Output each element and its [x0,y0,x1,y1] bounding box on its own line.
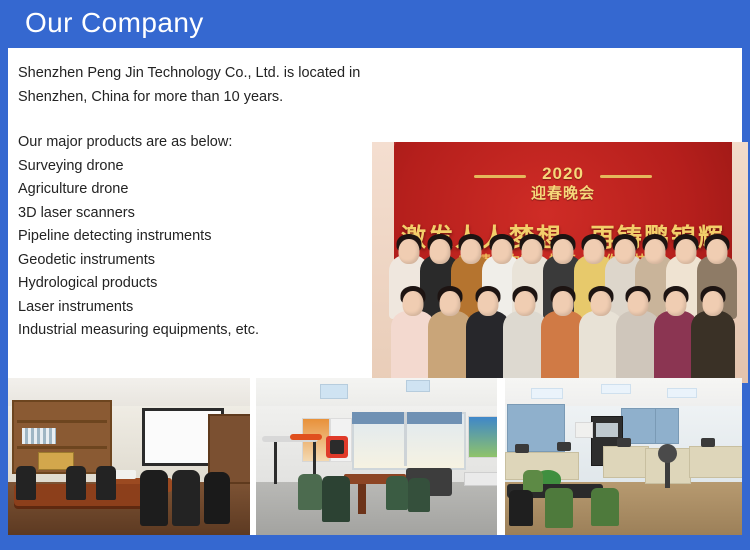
open-plan-office-photo [505,378,742,535]
company-profile-page: Our Company Shenzhen Peng Jin Technology… [0,0,750,550]
work-bench [464,472,497,486]
chair [140,470,168,526]
chair [16,466,36,500]
header-bar: Our Company [0,0,750,48]
list-item: 3D laser scanners [18,202,368,226]
list-item: Hydrological products [18,272,368,296]
content-card: Shenzhen Peng Jin Technology Co., Ltd. i… [8,48,742,375]
page-title: Our Company [25,5,204,41]
list-item: Surveying drone [18,155,368,179]
banner-subtitle: 迎春晚会 [394,182,732,203]
air-conditioner [575,422,593,438]
text-spacer [18,109,368,131]
floor [256,482,497,535]
person [394,285,432,383]
company-intro-text: Shenzhen Peng Jin Technology Co., Ltd. i… [18,62,368,109]
standing-fan [665,454,670,488]
window-blind [655,408,679,444]
office-photo-strip [8,378,742,535]
bookshelf [12,400,112,474]
person [657,285,695,383]
ceiling-light [406,380,430,392]
frame-left-border [0,48,8,535]
monitor [515,444,529,453]
monitor [557,442,571,451]
chair [545,488,573,528]
frame-bottom-border [0,535,750,550]
office-cubicle [689,446,742,478]
window-mullion [404,412,407,466]
wall-poster [468,416,497,458]
chair [96,466,116,500]
conference-room-photo [8,378,250,535]
list-item: Pipeline detecting instruments [18,225,368,249]
instrument-case [326,436,348,458]
person [544,285,582,383]
company-text-column: Shenzhen Peng Jin Technology Co., Ltd. i… [18,62,368,343]
ceiling-light [531,388,563,399]
chair [66,466,86,500]
list-item: Industrial measuring equipments, etc. [18,319,368,343]
ceiling-light [320,384,348,399]
office-cubicle [603,446,649,478]
chair [509,490,533,526]
monitor [701,438,715,447]
window-blind [352,412,462,424]
person [619,285,657,383]
person [469,285,507,383]
chair [172,470,200,526]
banner-year: 2020 [394,164,732,184]
person [432,285,470,383]
people-front-row [394,285,732,383]
products-heading: Our major products are as below: [18,131,368,155]
showroom-meeting-room-photo [256,378,497,535]
books [22,428,56,444]
person [582,285,620,383]
ceiling-light [667,388,697,398]
ceiling-light [601,384,631,394]
list-item: Agriculture drone [18,178,368,202]
chair [408,478,430,512]
chair [298,474,322,510]
chair [386,476,408,510]
list-item: Laser instruments [18,296,368,320]
chair [204,472,230,524]
chair [523,470,543,492]
monitor [617,438,631,447]
company-annual-party-group-photo: 2020 迎春晚会 激发人人梦想，再铸鹏锦辉煌！ [激情 · 你我 · 情真 ·… [372,142,748,383]
list-item: Geodetic instruments [18,249,368,273]
chair [322,476,350,522]
group-photo-people [394,233,732,383]
tripod-instrument [290,434,322,440]
person [695,285,733,383]
chair [591,488,619,526]
product-list: Surveying drone Agriculture drone 3D las… [18,155,368,343]
person [507,285,545,383]
